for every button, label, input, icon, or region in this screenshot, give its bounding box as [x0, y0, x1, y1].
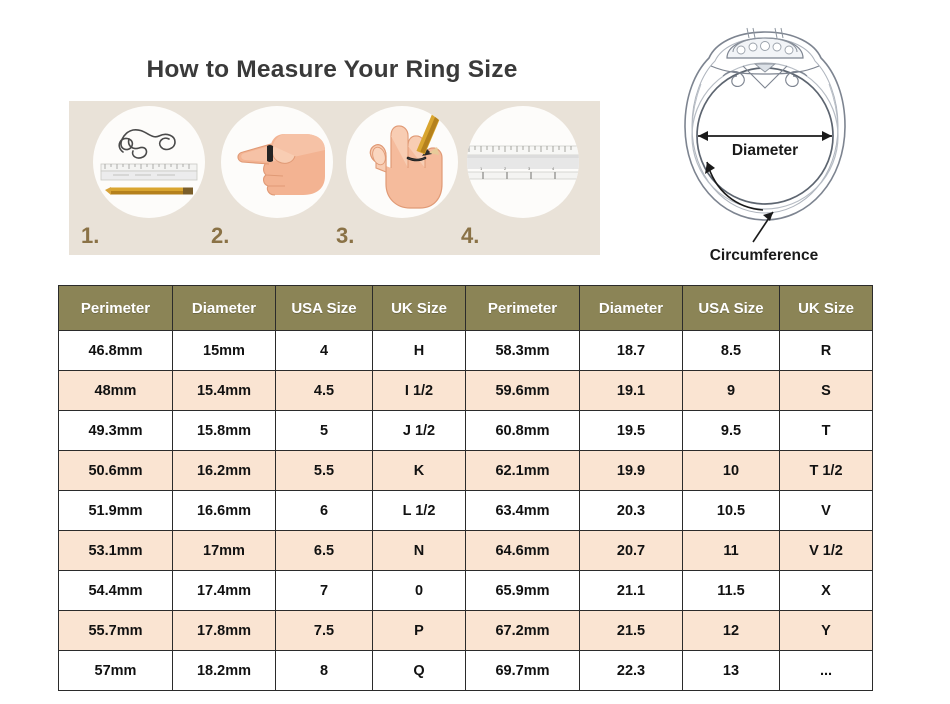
page-title: How to Measure Your Ring Size: [58, 56, 606, 84]
instructions-area: How to Measure Your Ring Size: [0, 0, 950, 278]
table-cell: 64.6mm: [466, 531, 580, 571]
table-row: 51.9mm16.6mm6L 1/263.4mm20.310.5V: [59, 491, 873, 531]
table-cell: 5: [276, 411, 373, 451]
step-1: 1.: [81, 101, 205, 255]
table-cell: 17.4mm: [173, 571, 276, 611]
table-row: 46.8mm15mm4H58.3mm18.78.5R: [59, 331, 873, 371]
table-cell: 6: [276, 491, 373, 531]
table-cell: 50.6mm: [59, 451, 173, 491]
table-cell: 20.7: [580, 531, 683, 571]
column-header: Perimeter: [466, 286, 580, 331]
column-header: UK Size: [373, 286, 466, 331]
step-2-number: 2.: [211, 223, 229, 249]
column-header: Diameter: [580, 286, 683, 331]
table-cell: 16.6mm: [173, 491, 276, 531]
step-4: 12 34 4.: [461, 101, 585, 255]
table-cell: 15.4mm: [173, 371, 276, 411]
step-3-circle: [346, 106, 458, 218]
table-cell: 16.2mm: [173, 451, 276, 491]
diameter-label: Diameter: [701, 142, 829, 160]
table-cell: ...: [780, 651, 873, 691]
table-cell: 18.7: [580, 331, 683, 371]
table-row: 55.7mm17.8mm7.5P67.2mm21.512Y: [59, 611, 873, 651]
table-cell: H: [373, 331, 466, 371]
table-cell: L 1/2: [373, 491, 466, 531]
table-cell: 13: [683, 651, 780, 691]
table-header: PerimeterDiameterUSA SizeUK SizePerimete…: [59, 286, 873, 331]
table-cell: 53.1mm: [59, 531, 173, 571]
table-cell: X: [780, 571, 873, 611]
table-cell: 21.1: [580, 571, 683, 611]
table-cell: 15mm: [173, 331, 276, 371]
step-2-circle: [221, 106, 333, 218]
table-cell: 59.6mm: [466, 371, 580, 411]
column-header: Perimeter: [59, 286, 173, 331]
table-cell: P: [373, 611, 466, 651]
table-cell: 17.8mm: [173, 611, 276, 651]
table-cell: 6.5: [276, 531, 373, 571]
step-1-circle: [93, 106, 205, 218]
table-cell: 60.8mm: [466, 411, 580, 451]
step-3-number: 3.: [336, 223, 354, 249]
table-cell: 55.7mm: [59, 611, 173, 651]
table-row: 53.1mm17mm6.5N64.6mm20.711V 1/2: [59, 531, 873, 571]
table-cell: R: [780, 331, 873, 371]
table-cell: 9: [683, 371, 780, 411]
table-cell: 10.5: [683, 491, 780, 531]
table-cell: K: [373, 451, 466, 491]
table-header-row: PerimeterDiameterUSA SizeUK SizePerimete…: [59, 286, 873, 331]
table-cell: I 1/2: [373, 371, 466, 411]
hand-with-string-and-pencil-icon: [346, 106, 458, 218]
table-cell: 18.2mm: [173, 651, 276, 691]
table-cell: 10: [683, 451, 780, 491]
table-cell: T: [780, 411, 873, 451]
table-cell: 12: [683, 611, 780, 651]
table-row: 57mm18.2mm8Q69.7mm22.313...: [59, 651, 873, 691]
table-row: 48mm15.4mm4.5I 1/259.6mm19.19S: [59, 371, 873, 411]
table-cell: 22.3: [580, 651, 683, 691]
table-cell: 58.3mm: [466, 331, 580, 371]
table-cell: 19.1: [580, 371, 683, 411]
steps-panel: 1. 2.: [69, 101, 600, 255]
table-cell: 48mm: [59, 371, 173, 411]
table-cell: 21.5: [580, 611, 683, 651]
step-3: 3.: [334, 101, 458, 255]
table-cell: 8.5: [683, 331, 780, 371]
table-cell: 67.2mm: [466, 611, 580, 651]
table-cell: Y: [780, 611, 873, 651]
step-2: 2.: [209, 101, 333, 255]
column-header: UK Size: [780, 286, 873, 331]
column-header: USA Size: [276, 286, 373, 331]
table-cell: 15.8mm: [173, 411, 276, 451]
table-cell: 54.4mm: [59, 571, 173, 611]
table-body: 46.8mm15mm4H58.3mm18.78.5R48mm15.4mm4.5I…: [59, 331, 873, 691]
table-row: 54.4mm17.4mm7065.9mm21.111.5X: [59, 571, 873, 611]
diamond-ring-cross-section-icon: [645, 14, 885, 266]
howto-block: How to Measure Your Ring Size: [58, 8, 606, 270]
pointing-hand-with-ring-icon: [221, 106, 333, 218]
table-cell: 4: [276, 331, 373, 371]
column-header: Diameter: [173, 286, 276, 331]
table-cell: V 1/2: [780, 531, 873, 571]
table-cell: 17mm: [173, 531, 276, 571]
table-cell: 8: [276, 651, 373, 691]
table-cell: 11.5: [683, 571, 780, 611]
circumference-label: Circumference: [669, 247, 859, 265]
column-header: USA Size: [683, 286, 780, 331]
ring-size-table: PerimeterDiameterUSA SizeUK SizePerimete…: [58, 285, 873, 691]
ruler-measure-icon: 12 34: [467, 106, 579, 218]
table-cell: 9.5: [683, 411, 780, 451]
string-and-ruler-icon: [93, 106, 205, 218]
table-cell: T 1/2: [780, 451, 873, 491]
step-4-number: 4.: [461, 223, 479, 249]
table-cell: 5.5: [276, 451, 373, 491]
table-cell: S: [780, 371, 873, 411]
table-cell: 62.1mm: [466, 451, 580, 491]
table-cell: 46.8mm: [59, 331, 173, 371]
table-cell: 20.3: [580, 491, 683, 531]
table-cell: 7.5: [276, 611, 373, 651]
table-cell: 19.9: [580, 451, 683, 491]
table-cell: J 1/2: [373, 411, 466, 451]
table-cell: N: [373, 531, 466, 571]
ring-diagram: Diameter Circumference: [645, 14, 885, 266]
step-1-number: 1.: [81, 223, 99, 249]
table-row: 50.6mm16.2mm5.5K62.1mm19.910T 1/2: [59, 451, 873, 491]
table-cell: 7: [276, 571, 373, 611]
table-cell: 49.3mm: [59, 411, 173, 451]
table-cell: 19.5: [580, 411, 683, 451]
step-4-circle: 12 34: [467, 106, 579, 218]
table-cell: 0: [373, 571, 466, 611]
table-cell: 65.9mm: [466, 571, 580, 611]
table-cell: 51.9mm: [59, 491, 173, 531]
table-cell: Q: [373, 651, 466, 691]
table-cell: 69.7mm: [466, 651, 580, 691]
table-cell: 63.4mm: [466, 491, 580, 531]
table-row: 49.3mm15.8mm5J 1/260.8mm19.59.5T: [59, 411, 873, 451]
table-cell: V: [780, 491, 873, 531]
table-cell: 4.5: [276, 371, 373, 411]
table-cell: 11: [683, 531, 780, 571]
table-cell: 57mm: [59, 651, 173, 691]
